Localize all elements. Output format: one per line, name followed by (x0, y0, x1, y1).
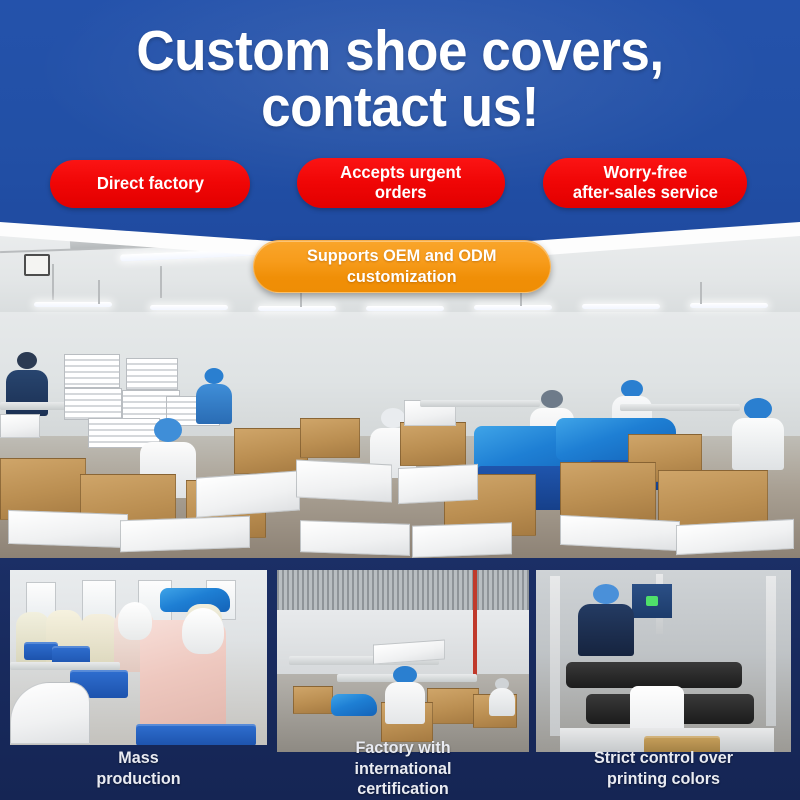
promo-banner: Custom shoe covers, contact us! Direct f… (0, 0, 800, 800)
pendant-4 (700, 282, 702, 304)
work-table (10, 662, 120, 670)
cap-0-line-2: production (16, 769, 260, 790)
thumbnail-printing-color-control[interactable] (536, 570, 791, 752)
pill-2-line-2: after-sales service (572, 183, 717, 203)
oem-odm-badge[interactable]: Supports OEM and ODM customization (253, 240, 551, 293)
material-stack (126, 358, 178, 390)
light-strip (258, 306, 336, 311)
worker-body (578, 604, 634, 656)
white-packaging (300, 520, 410, 556)
worker-cap (541, 390, 563, 408)
white-packaging (120, 516, 250, 553)
feature-pill-urgent-orders[interactable]: Accepts urgent orders (297, 158, 505, 208)
worker-cap (154, 418, 182, 442)
headline-line-1: Custom shoe covers, (28, 24, 772, 80)
cardboard-box (400, 422, 466, 466)
hanger-rod-1 (52, 264, 54, 300)
cap-2-line-1: Strict control over (542, 748, 784, 769)
pill-2-line-1: Worry-free (572, 163, 717, 183)
worker-cap (17, 352, 37, 369)
pill-1-line-1: Accepts urgent (340, 163, 461, 183)
page-title: Custom shoe covers, contact us! (28, 24, 772, 136)
worker-distant (489, 678, 515, 716)
machine-frame (550, 576, 560, 736)
caption-international-certification: Factory with international certification (277, 738, 529, 800)
pendant-1 (98, 280, 100, 304)
blue-basket (136, 724, 256, 745)
worker-blue-cap (196, 368, 232, 424)
indicator-light (646, 596, 658, 606)
light-strip (474, 305, 552, 310)
white-packaging (676, 519, 794, 555)
worker-hood (182, 608, 224, 654)
white-packaging (296, 459, 392, 502)
white-packaging (0, 414, 40, 438)
badge-line-1: Supports OEM and ODM (307, 246, 496, 266)
worker-body (732, 418, 784, 470)
caption-mass-production: Mass production (10, 748, 267, 789)
printing-roller (566, 662, 742, 688)
work-table (620, 404, 740, 411)
material-stack (64, 354, 120, 388)
light-strip (366, 306, 444, 311)
machine-operator (578, 584, 634, 656)
feature-pill-direct-factory[interactable]: Direct factory (50, 160, 250, 208)
pill-1-line-2: orders (340, 183, 461, 203)
worker-body (489, 688, 515, 716)
white-packaging (398, 464, 478, 504)
cap-1-line-3: certification (283, 779, 522, 800)
blue-material (331, 694, 377, 716)
white-packaging (412, 522, 512, 557)
work-table (420, 400, 540, 407)
worker-body (196, 384, 232, 424)
cardboard-box (300, 418, 360, 458)
worker-cap (744, 398, 772, 420)
worker-blue-cap (385, 666, 425, 724)
white-packaging (8, 510, 128, 548)
cap-0-line-1: Mass (16, 748, 260, 769)
worker-cap (205, 368, 224, 384)
red-pole (473, 570, 477, 676)
cardboard-box (560, 462, 656, 522)
worker-cap (593, 584, 619, 604)
white-packaging (560, 515, 680, 551)
cap-2-line-2: printing colors (542, 769, 784, 790)
cardboard-box (293, 686, 333, 714)
light-strip (150, 305, 228, 310)
cardboard-box (427, 688, 479, 724)
thumbnail-international-certification[interactable] (277, 570, 529, 752)
badge-line-2: customization (307, 267, 496, 287)
white-packaging (196, 470, 300, 517)
thumbnail-mass-production[interactable] (10, 570, 267, 745)
worker-hood (118, 602, 152, 640)
pill-0-line-1: Direct factory (96, 174, 203, 194)
cap-1-line-2: international (283, 759, 522, 780)
caption-printing-colors: Strict control over printing colors (536, 748, 791, 789)
hanger-rod-2 (160, 266, 162, 298)
panel-1-ceiling-grille (277, 570, 529, 612)
work-table (0, 402, 74, 410)
headline-line-2: contact us! (28, 80, 772, 136)
wall-clock-icon (24, 254, 50, 276)
material-stack (64, 388, 122, 420)
machine-frame (766, 576, 776, 726)
worker-body (385, 682, 425, 724)
light-strip (34, 302, 112, 307)
cap-1-line-1: Factory with (283, 738, 522, 759)
feature-pill-after-sales[interactable]: Worry-free after-sales service (543, 158, 747, 208)
light-strip (582, 304, 660, 309)
